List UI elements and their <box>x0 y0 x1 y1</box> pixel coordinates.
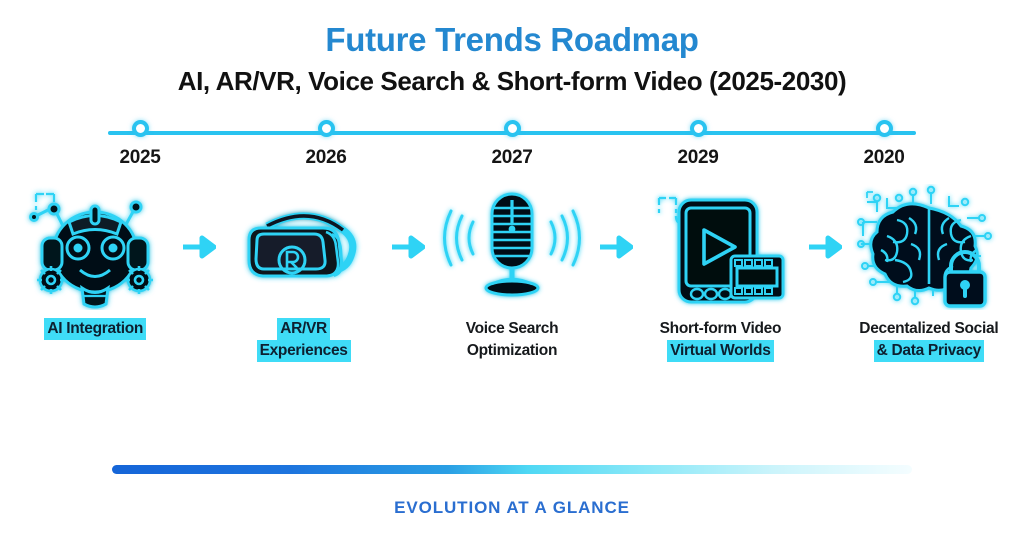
footer-label: EVOLUTION AT A GLANCE <box>0 498 1024 518</box>
stage-caption-line: AR/VR <box>277 318 330 340</box>
stage-caption-line: Optimization <box>464 340 560 362</box>
stage-caption-line: Short-form Video <box>657 318 785 340</box>
arrow-right-icon <box>593 182 639 312</box>
stage-caption: Voice Search Optimization <box>463 318 562 362</box>
timeline-year-label: 2027 <box>491 147 532 169</box>
timeline-dot-icon <box>690 120 707 137</box>
timeline-year-label: 2026 <box>305 147 346 169</box>
timeline-year-label: 2029 <box>677 147 718 169</box>
footer: EVOLUTION AT A GLANCE <box>0 465 1024 518</box>
stage-caption: AR/VR Experiences <box>257 318 351 362</box>
ai-robot-head-icon <box>15 182 175 312</box>
microphone-icon <box>432 182 592 312</box>
timeline-dot-icon <box>318 120 335 137</box>
stage-caption-line: Voice Search <box>463 318 562 340</box>
page-title: Future Trends Roadmap <box>0 22 1024 58</box>
stage-decentralized-social-privacy[interactable]: Decentalized Social & Data Privacy <box>848 182 1010 362</box>
timeline-year-label: 2025 <box>119 147 160 169</box>
stage-arvr-experiences[interactable]: AR/VR Experiences <box>222 182 384 362</box>
stage-caption-line: Decentalized Social <box>856 318 1001 340</box>
timeline-dot-icon <box>876 120 893 137</box>
arrow-right-icon <box>176 182 222 312</box>
page-header: Future Trends Roadmap AI, AR/VR, Voice S… <box>0 0 1024 96</box>
video-player-icon <box>640 182 800 312</box>
timeline-dot-icon <box>504 120 521 137</box>
stage-ai-integration[interactable]: AI Integration <box>14 182 176 340</box>
page-subtitle: AI, AR/VR, Voice Search & Short-form Vid… <box>0 67 1024 96</box>
vr-headset-icon <box>224 182 384 312</box>
stage-caption: Short-form Video Virtual Worlds <box>657 318 785 362</box>
timeline-node-2026[interactable]: 2026 <box>286 120 366 169</box>
timeline-node-2029[interactable]: 2029 <box>658 120 738 169</box>
timeline-node-2025[interactable]: 2025 <box>100 120 180 169</box>
timeline-node-2020[interactable]: 2020 <box>844 120 924 169</box>
stage-caption: Decentalized Social & Data Privacy <box>856 318 1001 362</box>
evolution-gradient-bar <box>112 465 912 474</box>
brain-lock-icon <box>849 182 1009 312</box>
stage-caption-line: Virtual Worlds <box>667 340 773 362</box>
arrow-right-icon <box>385 182 431 312</box>
timeline-dot-icon <box>132 120 149 137</box>
stages-row: AI Integration <box>0 182 1024 362</box>
stage-caption-line: & Data Privacy <box>874 340 984 362</box>
timeline-node-2027[interactable]: 2027 <box>472 120 552 169</box>
arrow-right-icon <box>802 182 848 312</box>
timeline-nodes: 2025 2026 2027 2029 2020 <box>100 120 924 169</box>
stage-voice-search-optimization[interactable]: Voice Search Optimization <box>431 182 593 362</box>
stage-caption-line: Experiences <box>257 340 351 362</box>
stage-short-form-video[interactable]: Short-form Video Virtual Worlds <box>639 182 801 362</box>
timeline: 2025 2026 2027 2029 2020 <box>100 120 924 172</box>
stage-caption: AI Integration <box>44 318 146 340</box>
stage-caption-line: AI Integration <box>44 318 146 340</box>
timeline-year-label: 2020 <box>863 147 904 169</box>
